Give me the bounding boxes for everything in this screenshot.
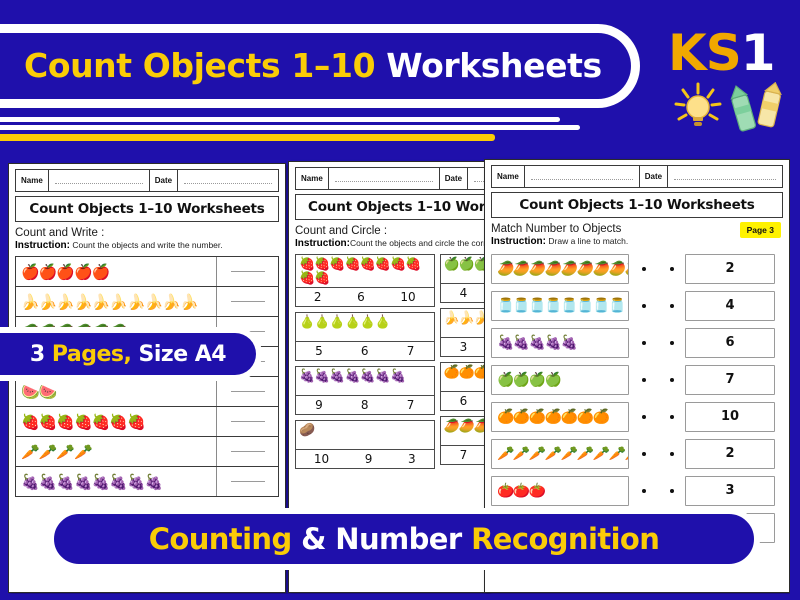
lightbulb-glass-icon	[687, 96, 709, 118]
number-option[interactable]: 3	[408, 452, 416, 466]
number-options: 987	[295, 396, 435, 415]
grade-level-ks: KS	[668, 24, 741, 82]
bottom-banner-part2: &	[292, 522, 336, 556]
answer-blank[interactable]	[216, 407, 278, 436]
name-date-row-1: Name Date	[15, 169, 279, 192]
name-date-row-2: Name Date	[295, 167, 488, 190]
match-row: 🍇🍇🍇🍇🍇6	[491, 326, 783, 359]
instruction-text-2: Count the objects and circle the correct…	[350, 238, 488, 248]
count-write-row: 🍉🍉	[16, 377, 278, 407]
grade-level-number: 1	[741, 24, 775, 82]
match-dot-left[interactable]	[642, 489, 646, 493]
number-option[interactable]: 10	[314, 452, 329, 466]
match-dot-right-wrap	[659, 452, 685, 456]
name-input-line-3[interactable]	[525, 166, 640, 187]
number-option[interactable]: 2	[314, 290, 322, 304]
number-option[interactable]: 9	[365, 452, 373, 466]
worksheet-subhead-1: Count and Write :	[15, 227, 279, 239]
name-date-row-3: Name Date	[491, 165, 783, 188]
header-icon-group	[670, 82, 790, 138]
poster-canvas: Count Objects 1–10 Worksheets KS1	[0, 0, 800, 600]
grade-level-label: KS1	[668, 28, 775, 78]
match-number-box[interactable]: 3	[685, 476, 775, 506]
bottom-banner: Counting & Number Recognition	[48, 508, 760, 570]
name-input-line-1[interactable]	[49, 170, 150, 191]
worksheet-title-3: Count Objects 1–10 Worksheets	[491, 192, 783, 218]
strawberry-icon-group: 🍓🍓🍓🍓🍓🍓🍓	[16, 407, 216, 436]
match-dot-right[interactable]	[670, 341, 674, 345]
worksheet-instruction-3: Instruction: Draw a line to match.	[491, 236, 783, 247]
accent-bar-white-2	[0, 125, 580, 130]
number-option[interactable]: 8	[361, 398, 369, 412]
answer-blank[interactable]	[216, 437, 278, 466]
instruction-text-1: Count the objects and write the number.	[72, 240, 222, 250]
count-circle-group: 🥭🥭🥭🥭742	[440, 416, 489, 465]
date-input-line-3[interactable]	[668, 166, 782, 187]
yellow-crayon-icon	[758, 82, 783, 127]
banana-icon-group: 🍌🍌🍌🍌🍌🍌🍌🍌🍌🍌	[16, 287, 216, 316]
grapes-icon-group: 🍇🍇🍇🍇🍇🍇🍇🍇	[16, 467, 216, 496]
accent-bar-yellow	[0, 134, 495, 141]
number-options: 567	[295, 342, 435, 361]
date-label-3: Date	[640, 166, 668, 187]
header-banner: Count Objects 1–10 Worksheets KS1	[0, 0, 800, 152]
name-label-2: Name	[296, 168, 329, 189]
worksheet-instruction-2: Instruction:Count the objects and circle…	[295, 238, 488, 249]
count-circle-group: 🍇🍇🍇🍇🍇🍇🍇987	[295, 366, 435, 415]
number-option[interactable]: 5	[315, 344, 323, 358]
count-circle-group: 🍊🍊🍊639	[440, 362, 489, 411]
instruction-label-3: Instruction:	[491, 236, 546, 247]
watermelon-icon-group: 🍉🍉	[16, 377, 216, 406]
worksheet-subhead-2: Count and Circle :	[295, 225, 488, 237]
match-dot-right-wrap	[659, 489, 685, 493]
tomato-icon-group: 🍅🍅🍅	[491, 476, 629, 506]
worksheet-title-2: Count Objects 1–10 Worksheets	[295, 194, 488, 220]
match-dot-left-wrap	[629, 341, 659, 345]
match-row: 🍊🍊🍊🍊🍊🍊🍊10	[491, 400, 783, 433]
page-title: Count Objects 1–10 Worksheets	[24, 38, 624, 94]
carrot-icon-group: 🥕🥕🥕🥕	[16, 437, 216, 466]
count-circle-group: 🥔1093	[295, 420, 435, 469]
answer-blank[interactable]	[216, 257, 278, 286]
count-write-row: 🍇🍇🍇🍇🍇🍇🍇🍇	[16, 467, 278, 497]
match-dot-right[interactable]	[670, 378, 674, 382]
match-row: 🍅🍅🍅3	[491, 474, 783, 507]
number-option[interactable]: 9	[315, 398, 323, 412]
match-dot-right[interactable]	[670, 415, 674, 419]
green-apple-icon-group: 🍏🍏🍏🍏	[491, 365, 629, 395]
bottom-banner-part1: Counting	[149, 522, 292, 556]
apple-icon-group: 🍎🍎🍎🍎🍎	[16, 257, 216, 286]
match-number-box[interactable]: 7	[685, 365, 775, 395]
bottom-banner-part4: Recognition	[471, 522, 659, 556]
count-circle-column-right: 🍏🍏🍏🍏428🍌🍌🍌351🍊🍊🍊639🥭🥭🥭🥭742	[440, 254, 489, 474]
bottom-blue-strip	[0, 594, 800, 600]
match-dot-right[interactable]	[670, 304, 674, 308]
right-blue-strip	[790, 152, 800, 600]
accent-bar-white-1	[0, 117, 560, 122]
number-option[interactable]: 6	[460, 394, 468, 408]
instruction-text-3: Draw a line to match.	[548, 236, 628, 246]
number-options: 639	[440, 392, 489, 411]
pages-size: Size A4	[131, 342, 226, 367]
count-write-row: 🍎🍎🍎🍎🍎	[16, 257, 278, 287]
number-option[interactable]: 6	[361, 344, 369, 358]
match-dot-right-wrap	[659, 267, 685, 271]
pages-count: 3	[30, 342, 52, 367]
count-write-row: 🍌🍌🍌🍌🍌🍌🍌🍌🍌🍌	[16, 287, 278, 317]
count-circle-wrap: 🍓🍓🍓🍓🍓🍓🍓🍓🍓🍓2610🍐🍐🍐🍐🍐🍐567🍇🍇🍇🍇🍇🍇🍇987🥔1093 🍏…	[295, 254, 488, 474]
match-dot-right[interactable]	[670, 452, 674, 456]
match-dot-left-wrap	[629, 415, 659, 419]
mango-icon-group: 🥭🥭🥭🥭🥭🥭🥭🥭🥭🥭	[491, 254, 629, 284]
count-circle-group: 🍓🍓🍓🍓🍓🍓🍓🍓🍓🍓2610	[295, 254, 435, 307]
date-label-2: Date	[440, 168, 468, 189]
match-row: 🥭🥭🥭🥭🥭🥭🥭🥭🥭🥭2	[491, 252, 783, 285]
match-row: 🥕🥕🥕🥕🥕🥕🥕🥕🥕2	[491, 437, 783, 470]
match-dot-right[interactable]	[670, 489, 674, 493]
match-row: 🍏🍏🍏🍏7	[491, 363, 783, 396]
match-number-box[interactable]: 4	[685, 291, 775, 321]
number-option[interactable]: 3	[460, 340, 468, 354]
pear-icon-group: 🍐🍐🍐🍐🍐🍐	[295, 312, 435, 342]
worksheet-title-1: Count Objects 1–10 Worksheets	[15, 196, 279, 222]
match-dot-left-wrap	[629, 489, 659, 493]
count-write-row: 🍓🍓🍓🍓🍓🍓🍓	[16, 407, 278, 437]
date-label-1: Date	[150, 170, 178, 191]
number-option[interactable]: 10	[400, 290, 415, 304]
number-option[interactable]: 4	[460, 286, 468, 300]
count-circle-group: 🍏🍏🍏🍏428	[440, 254, 489, 303]
green-apple-icon-group: 🍏🍏🍏🍏	[440, 254, 489, 284]
match-dot-right-wrap	[659, 304, 685, 308]
worksheet-instruction-1: Instruction: Count the objects and write…	[15, 240, 279, 251]
match-dot-right-wrap	[659, 341, 685, 345]
match-dot-left-wrap	[629, 378, 659, 382]
number-option[interactable]: 7	[460, 448, 468, 462]
banana-icon-group: 🍌🍌🍌	[440, 308, 489, 338]
orange-icon-group: 🍊🍊🍊🍊🍊🍊🍊	[491, 402, 629, 432]
bottom-banner-part3: Number	[335, 522, 471, 556]
match-dot-left[interactable]	[642, 378, 646, 382]
orange-icon-group: 🍊🍊🍊	[440, 362, 489, 392]
count-circle-group: 🍌🍌🍌351	[440, 308, 489, 357]
date-input-line-1[interactable]	[178, 170, 278, 191]
answer-blank[interactable]	[216, 467, 278, 496]
lightbulb-screw-icon	[694, 122, 702, 126]
instruction-label-1: Instruction:	[15, 240, 70, 251]
match-number-box[interactable]: 2	[685, 439, 775, 469]
pages-size-badge: 3 Pages, Size A4	[0, 327, 262, 381]
match-dot-left-wrap	[629, 304, 659, 308]
number-option[interactable]: 6	[357, 290, 365, 304]
count-write-row: 🥕🥕🥕🥕	[16, 437, 278, 467]
answer-blank[interactable]	[216, 287, 278, 316]
pages-word: Pages,	[52, 342, 132, 367]
match-number-box[interactable]: 2	[685, 254, 775, 284]
potato-icon-group: 🥔	[295, 420, 435, 450]
number-options: 742	[440, 446, 489, 465]
match-dot-right-wrap	[659, 415, 685, 419]
match-dot-left[interactable]	[642, 304, 646, 308]
grapes-icon-group: 🍇🍇🍇🍇🍇🍇🍇	[295, 366, 435, 396]
number-options: 2610	[295, 288, 435, 307]
match-dot-right[interactable]	[670, 267, 674, 271]
count-circle-group: 🍐🍐🍐🍐🍐🍐567	[295, 312, 435, 361]
page-title-part1: Count Objects 1–10	[24, 46, 386, 85]
grapes-icon-group: 🍇🍇🍇🍇🍇	[491, 328, 629, 358]
number-options: 428	[440, 284, 489, 303]
number-options: 351	[440, 338, 489, 357]
match-dot-left[interactable]	[642, 341, 646, 345]
match-dot-left[interactable]	[642, 267, 646, 271]
number-options: 1093	[295, 450, 435, 469]
match-dot-left-wrap	[629, 267, 659, 271]
number-option[interactable]: 7	[407, 398, 415, 412]
instruction-label-2: Instruction:	[295, 238, 350, 249]
jar-icon-group: 🫙🫙🫙🫙🫙🫙🫙🫙	[491, 291, 629, 321]
header-icons-svg	[670, 82, 790, 138]
carrot-icon-group: 🥕🥕🥕🥕🥕🥕🥕🥕🥕	[491, 439, 629, 469]
match-dot-left-wrap	[629, 452, 659, 456]
page-title-part2: Worksheets	[386, 46, 601, 85]
match-row: 🫙🫙🫙🫙🫙🫙🫙🫙4	[491, 289, 783, 322]
match-number-box[interactable]: 10	[685, 402, 775, 432]
strawberry-icon-group: 🍓🍓🍓🍓🍓🍓🍓🍓🍓🍓	[295, 254, 435, 288]
page-number-badge: Page 3	[740, 222, 781, 238]
count-circle-column-left: 🍓🍓🍓🍓🍓🍓🍓🍓🍓🍓2610🍐🍐🍐🍐🍐🍐567🍇🍇🍇🍇🍇🍇🍇987🥔1093	[295, 254, 435, 474]
match-dot-left[interactable]	[642, 452, 646, 456]
match-number-box[interactable]: 6	[685, 328, 775, 358]
mango-icon-group: 🥭🥭🥭🥭	[440, 416, 489, 446]
name-label-1: Name	[16, 170, 49, 191]
match-number-table: 🥭🥭🥭🥭🥭🥭🥭🥭🥭🥭2🫙🫙🫙🫙🫙🫙🫙🫙4🍇🍇🍇🍇🍇6🍏🍏🍏🍏7🍊🍊🍊🍊🍊🍊🍊10…	[491, 252, 783, 544]
lightbulb-base-icon	[693, 117, 703, 121]
green-crayon-icon	[728, 84, 756, 132]
answer-blank[interactable]	[216, 377, 278, 406]
name-input-line-2[interactable]	[329, 168, 440, 189]
number-option[interactable]: 7	[407, 344, 415, 358]
match-dot-right-wrap	[659, 378, 685, 382]
name-label-3: Name	[492, 166, 525, 187]
match-dot-left[interactable]	[642, 415, 646, 419]
